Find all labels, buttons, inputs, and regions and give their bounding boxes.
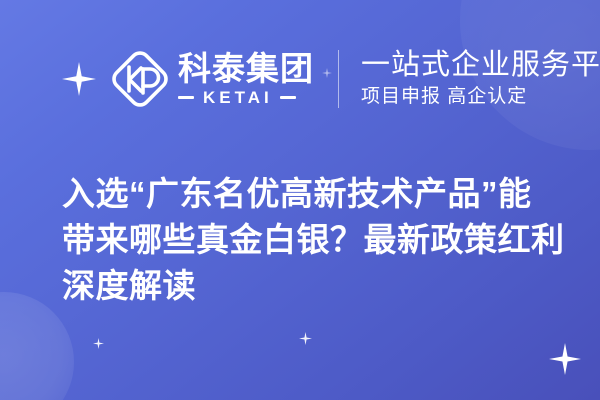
brand-lockup: 科泰集团 KETAI — [62, 49, 314, 109]
logo-name-cn: 科泰集团 — [178, 52, 314, 85]
logo-name-en: KETAI — [194, 89, 280, 106]
logo-rule-right — [280, 96, 296, 99]
promo-banner: 科泰集团 KETAI 一站式企业服务平台 项目申报 高企认定 入选“广东名优高新… — [0, 0, 600, 400]
page-title: 入选“广东名优高新技术产品”能 带来哪些真金白银？最新政策红利 深度解读 — [62, 171, 548, 309]
tagline-main: 一站式企业服务平台 — [361, 50, 600, 81]
logo-name-en-row: KETAI — [178, 89, 314, 106]
tagline-sub: 项目申报 高企认定 — [361, 87, 600, 108]
tagline-block: 一站式企业服务平台 项目申报 高企认定 — [361, 50, 600, 107]
sparkle-icon — [549, 343, 581, 375]
ketai-wordmark: 科泰集团 KETAI — [178, 52, 314, 106]
headline-line-3: 深度解读 — [62, 263, 548, 309]
logo-rule-left — [178, 96, 194, 99]
headline-line-2: 带来哪些真金白银？最新政策红利 — [62, 217, 548, 263]
header-divider — [338, 50, 339, 108]
ketai-logo-mark — [110, 49, 170, 109]
sparkle-icon — [299, 332, 312, 345]
banner-header: 科泰集团 KETAI 一站式企业服务平台 项目申报 高企认定 — [0, 40, 600, 118]
sparkle-icon — [62, 62, 96, 96]
sparkle-icon — [93, 338, 104, 349]
headline-line-1: 入选“广东名优高新技术产品”能 — [62, 171, 548, 217]
